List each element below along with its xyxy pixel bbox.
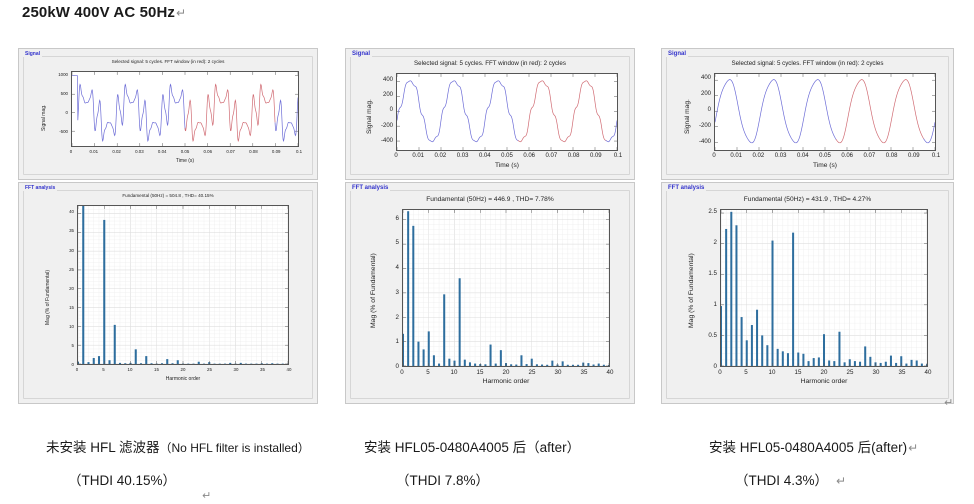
fft-axes [720,209,928,367]
signal-chart: Selected signal: 5 cycles. FFT window (i… [662,49,953,179]
fft-ytick-label: 0 [51,362,74,367]
fft-xtick-label: 30 [224,367,248,372]
signal-yaxis-label: Signal mag. [41,105,47,131]
figure-caption-2: 安装 HFL05-0480A4005 后（after） （THDI 7.8%） [364,436,580,489]
fft-ytick-label: 1 [376,338,399,345]
fft-panel: FFT analysis Fundamental (50Hz) = 446.9 … [345,182,635,404]
fft-xtick-label: 30 [546,369,570,376]
fft-chart: Fundamental (50Hz) = 431.9 , THD= 4.27%0… [662,183,953,403]
fft-ytick-label: 35 [51,228,74,233]
caption-cn: 安装 HFL05-0480A4005 后(after) [709,440,907,455]
fft-panel: FFT analysis Fundamental (50Hz) = 431.9 … [661,182,954,404]
fft-xtick-label: 20 [812,369,836,376]
caption-line-1: 未安装 HFL 滤波器（No HFL filter is installed） [46,436,310,456]
fft-ytick-label: 1 [694,301,717,308]
fft-xtick-label: 15 [786,369,810,376]
signal-xtick-label: 0.1 [922,153,950,159]
fft-xtick-label: 15 [145,367,169,372]
signal-ytick-label: 400 [370,77,393,83]
signal-ytick-label: 400 [688,75,711,81]
signal-chart: Selected signal: 5 cycles. FFT window (i… [346,49,634,179]
fft-xtick-label: 15 [468,369,492,376]
fft-chart: Fundamental (50Hz) = 504.8 , THD= 40.15%… [19,183,317,403]
figure-caption-1: 未安装 HFL 滤波器（No HFL filter is installed） … [46,436,310,489]
fft-chart: Fundamental (50Hz) = 446.9 , THD= 7.78%0… [346,183,634,403]
caption-cn: 安装 HFL05-0480A4005 后 [364,440,526,455]
signal-ytick-label: -400 [688,139,711,145]
signal-ytick-label: 0 [688,107,711,113]
signal-panel: Signal Selected signal: 5 cycles. FFT wi… [345,48,635,180]
fft-panel: FFT analysis Fundamental (50Hz) = 504.8 … [18,182,318,404]
caption-thdi: （THDI 7.8%） [396,473,489,488]
figure-caption-3: 安装 HFL05-0480A4005 后(after)↵ （THDI 4.3%）… [709,436,918,489]
signal-yaxis-label: Signal mag. [684,99,691,134]
fft-ytick-label: 3 [376,289,399,296]
fft-yaxis-label: Mag (% of Fundamental) [688,253,695,328]
fft-xtick-label: 40 [598,369,622,376]
fft-xtick-label: 35 [251,367,275,372]
fft-ytick-label: 20 [51,286,74,291]
fft-panel-label: FFT analysis [666,185,706,191]
signal-xtick-label: 0.1 [285,149,313,154]
fft-ytick-label: 40 [51,209,74,214]
fft-xtick-label: 35 [572,369,596,376]
signal-xaxis-label: Time (s) [396,162,618,169]
fft-ytick-label: 2 [694,239,717,246]
signal-xaxis-label: Time (s) [71,158,299,164]
signal-panel-label: Signal [350,51,372,57]
fft-panel-label: FFT analysis [350,185,390,191]
fft-xtick-label: 10 [760,369,784,376]
signal-ytick-label: -500 [45,129,68,134]
fft-yaxis-label: Mag (% of Fundamental) [370,253,377,328]
signal-panel: Signal Selected signal: 5 cycles. FFT wi… [18,48,318,180]
paragraph-mark-icon: ↵ [944,396,953,409]
fft-chart-title: Fundamental (50Hz) = 431.9 , THD= 4.27% [662,196,953,203]
fft-chart-title: Fundamental (50Hz) = 504.8 , THD= 40.15% [19,193,317,198]
fft-xtick-label: 30 [864,369,888,376]
fft-axes [77,205,289,365]
page-title-text: 250kW 400V AC 50Hz [22,4,175,21]
signal-ytick-label: -200 [370,123,393,129]
signal-panel-label: Signal [666,51,688,57]
caption-line-2: （THDI 40.15%） [68,469,310,489]
fft-xtick-label: 35 [890,369,914,376]
signal-chart: Selected signal: 5 cycles. FFT window (i… [19,49,317,179]
fft-xtick-label: 25 [520,369,544,376]
signal-axes [71,71,299,147]
signal-panel: Signal Selected signal: 5 cycles. FFT wi… [661,48,954,180]
fft-ytick-label: 30 [51,248,74,253]
fft-xtick-label: 0 [65,367,89,372]
caption-en: （No HFL filter is installed） [160,441,310,455]
caption-line-2: （THDI 4.3%）↵ [735,469,918,489]
signal-ytick-label: 0 [370,107,393,113]
fft-ytick-label: 5 [51,343,74,348]
fft-yaxis-label: Mag (% of Fundamental) [45,270,51,325]
fft-xtick-label: 40 [277,367,301,372]
signal-chart-title: Selected signal: 5 cycles. FFT window (i… [19,59,317,64]
fft-xtick-label: 0 [708,369,732,376]
fft-ytick-label: 2 [376,314,399,321]
fft-ytick-label: 10 [51,324,74,329]
fft-xtick-label: 5 [734,369,758,376]
paragraph-mark-icon: ↵ [836,474,846,488]
fft-xtick-label: 20 [494,369,518,376]
signal-ytick-label: 1000 [45,72,68,77]
caption-line-1: 安装 HFL05-0480A4005 后(after)↵ [709,436,918,456]
signal-chart-title: Selected signal: 5 cycles. FFT window (i… [346,60,634,67]
figure-column-2: Signal Selected signal: 5 cycles. FFT wi… [345,48,635,404]
caption-thdi: （THDI 40.15%） [68,473,176,488]
fft-xtick-label: 25 [838,369,862,376]
caption-thdi: （THDI 4.3%） [735,473,828,488]
fft-ytick-label: 4 [376,264,399,271]
signal-ytick-label: -400 [370,138,393,144]
fft-xaxis-label: Harmonic order [77,376,289,382]
fft-ytick-label: 1.5 [694,270,717,277]
fft-xtick-label: 5 [416,369,440,376]
figure-column-1: Signal Selected signal: 5 cycles. FFT wi… [18,48,318,404]
signal-ytick-label: -200 [688,123,711,129]
signal-panel-label: Signal [23,51,42,57]
fft-xtick-label: 25 [198,367,222,372]
caption-en: （after） [526,440,580,455]
signal-chart-title: Selected signal: 5 cycles. FFT window (i… [662,60,953,67]
caption-line-2: （THDI 7.8%） [396,469,580,489]
paragraph-mark-icon: ↵ [176,6,186,20]
document-page: 250kW 400V AC 50Hz↵ Signal Selected sign… [0,0,974,504]
fft-xtick-label: 5 [92,367,116,372]
signal-xaxis-label: Time (s) [714,162,936,169]
fft-ytick-label: 5 [376,239,399,246]
signal-ytick-label: 500 [45,91,68,96]
fft-ytick-label: 25 [51,267,74,272]
fft-ytick-label: 0.5 [694,332,717,339]
signal-ytick-label: 200 [370,92,393,98]
fft-xtick-label: 0 [390,369,414,376]
fft-axes [402,209,610,367]
fft-xaxis-label: Harmonic order [402,378,610,385]
paragraph-mark-icon: ↵ [908,441,918,455]
fft-chart-title: Fundamental (50Hz) = 446.9 , THD= 7.78% [346,196,634,203]
fft-xtick-label: 40 [916,369,940,376]
signal-axes [714,73,936,151]
figure-column-3: Signal Selected signal: 5 cycles. FFT wi… [661,48,954,404]
signal-ytick-label: 200 [688,91,711,97]
fft-ytick-label: 0 [694,363,717,370]
fft-ytick-label: 6 [376,215,399,222]
fft-xtick-label: 10 [118,367,142,372]
signal-axes [396,73,618,151]
fft-ytick-label: 0 [376,363,399,370]
page-title: 250kW 400V AC 50Hz↵ [22,4,186,21]
paragraph-mark-icon: ↵ [202,489,211,502]
caption-cn: 未安装 HFL 滤波器 [46,440,160,455]
signal-yaxis-label: Signal mag. [366,99,373,134]
signal-ytick-label: 0 [45,110,68,115]
fft-ytick-label: 15 [51,305,74,310]
caption-line-1: 安装 HFL05-0480A4005 后（after） [364,436,580,456]
fft-xtick-label: 20 [171,367,195,372]
fft-xaxis-label: Harmonic order [720,378,928,385]
fft-xtick-label: 10 [442,369,466,376]
signal-xtick-label: 0.1 [604,153,632,159]
fft-ytick-label: 2.5 [694,208,717,215]
fft-panel-label: FFT analysis [23,185,57,191]
